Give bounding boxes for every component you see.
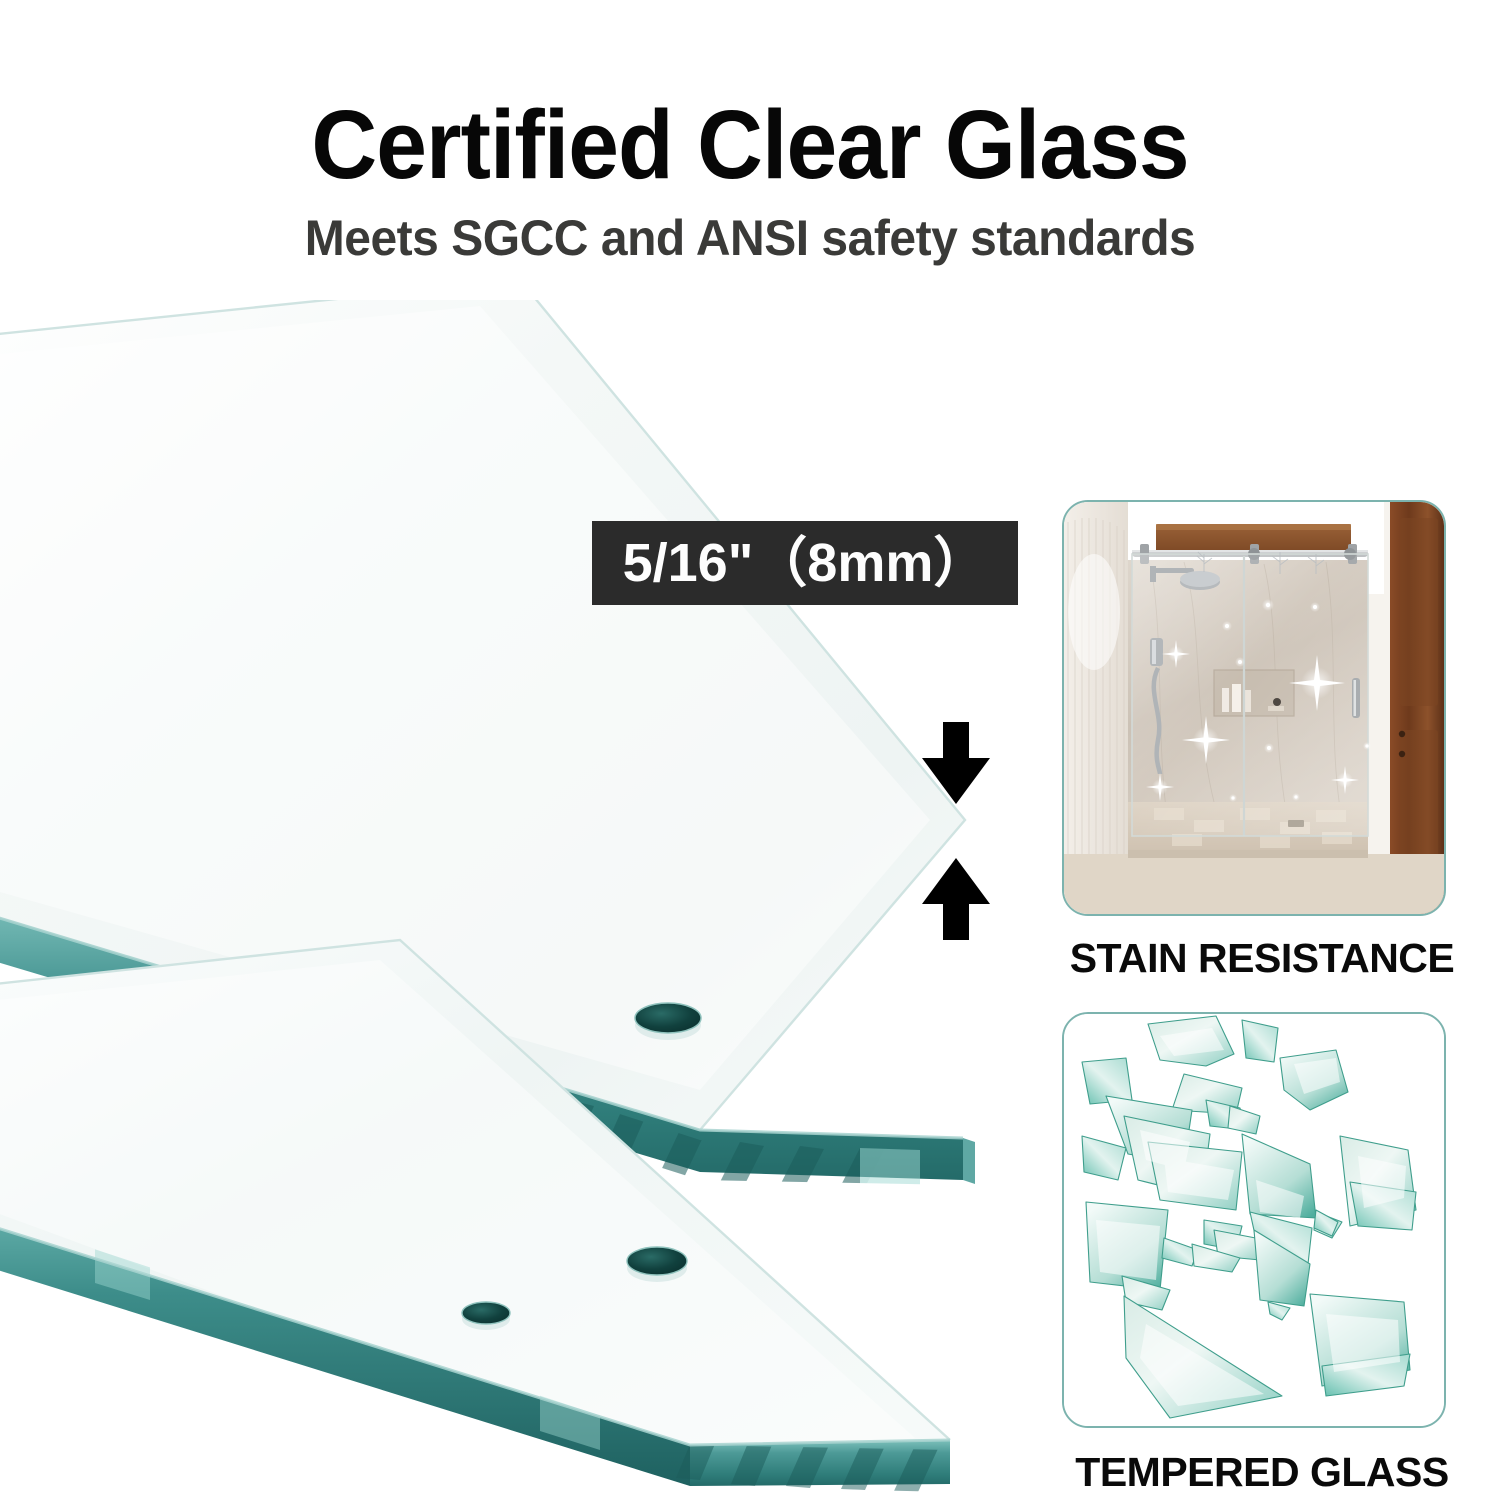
page-subtitle: Meets SGCC and ANSI safety standards (30, 213, 1470, 263)
glass-panels-illustration (0, 300, 1040, 1500)
header: Certified Clear Glass Meets SGCC and ANS… (0, 0, 1500, 300)
glass-hole (635, 1003, 701, 1040)
glass-hole (627, 1247, 687, 1282)
glass-panel-bottom (0, 940, 950, 1492)
arrow-up-icon (916, 858, 996, 940)
shattered-glass-shards-photo (1064, 1014, 1444, 1426)
page-title: Certified Clear Glass (45, 96, 1455, 193)
thickness-badge-label: 5/16"（8mm） (623, 536, 988, 590)
thickness-badge: 5/16"（8mm） (592, 521, 1018, 605)
glass-hole (462, 1302, 510, 1330)
glass-panels-svg (0, 300, 1040, 1500)
feature-label-stain-resistance: STAIN RESISTANCE (1032, 938, 1492, 979)
feature-card-tempered-glass[interactable] (1062, 1012, 1446, 1428)
edge-cap-top (963, 1138, 975, 1184)
shower-enclosure-photo (1064, 502, 1444, 914)
arrow-down-icon (916, 722, 996, 804)
feature-card-stain-resistance[interactable] (1062, 500, 1446, 916)
feature-label-tempered-glass: TEMPERED GLASS (1032, 1452, 1492, 1493)
